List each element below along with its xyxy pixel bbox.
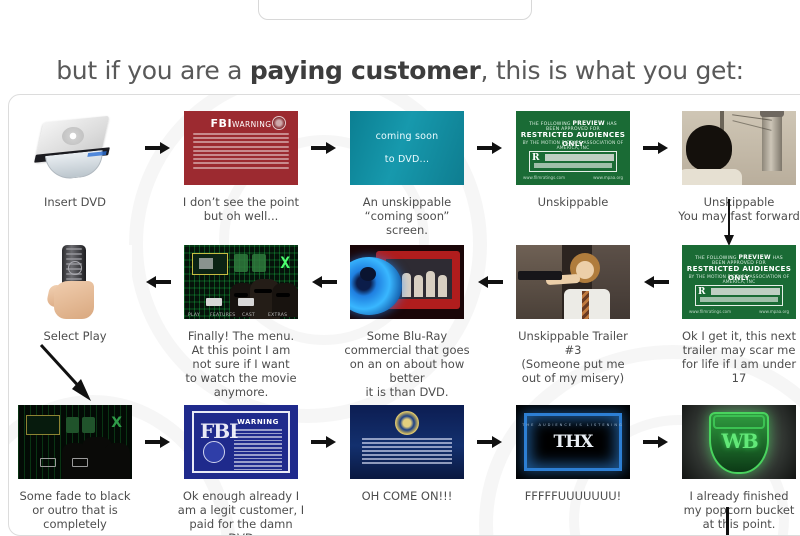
flow-step: FBIWARNING I don’t see the point but oh …: [175, 109, 307, 223]
fbi-seal-screen: [350, 405, 464, 479]
headline-suffix: , this is what you get:: [481, 56, 744, 85]
wb-wordmark: WB: [721, 429, 756, 453]
thumbnail-wrap: coming soon to DVD...: [350, 109, 464, 187]
girl-with-gun-trailer: [516, 245, 630, 319]
flow-step: Some Blu-Ray commercial that goes on an …: [341, 243, 473, 399]
mpaa-line1-mid: PREVIEW: [738, 254, 770, 261]
menu-button-extras[interactable]: EXTRAS: [268, 313, 287, 318]
arrow-diagonal-down-right-icon: [39, 343, 105, 411]
coming-soon-line2: to DVD...: [385, 154, 429, 165]
arrow-right-icon: [473, 403, 507, 481]
flow-step: coming soon to DVD... An unskippable “co…: [341, 109, 473, 237]
fbi-red-subtitle: WARNING: [232, 120, 271, 129]
dvd-drive-icon: [18, 111, 132, 185]
step-caption: Insert DVD: [11, 195, 139, 209]
arrow-left-icon: [141, 243, 175, 321]
flow-step: OH COME ON!!!: [341, 403, 473, 503]
flow-step: Insert DVD: [9, 109, 141, 209]
step-caption: Unskippable: [509, 195, 637, 209]
mpaa-line3: BY THE MOTION PICTURE ASSOCIATION OF AME…: [516, 141, 630, 151]
mpaa-footer-left: www.filmratings.com: [523, 175, 565, 180]
thumbnail-wrap: THE FOLLOWING PREVIEW HAS BEEN APPROVED …: [682, 243, 796, 321]
mpaa-line1-mid: PREVIEW: [572, 120, 604, 127]
fade-to-black-menu: X: [18, 405, 132, 479]
menu-button-cast[interactable]: CAST: [242, 313, 255, 318]
thumbnail-wrap: [682, 109, 796, 187]
fbi-red-warning-screen: FBIWARNING: [184, 111, 298, 185]
flow-step: THE FOLLOWING PREVIEW HAS BEEN APPROVED …: [673, 243, 800, 385]
arrow-right-icon: [639, 109, 673, 187]
menu-button-features[interactable]: FEATURES: [210, 313, 235, 318]
mpaa-green-card: THE FOLLOWING PREVIEW HAS BEEN APPROVED …: [682, 245, 796, 319]
mpaa-line3: BY THE MOTION PICTURE ASSOCIATION OF AME…: [682, 275, 796, 285]
mpaa-footer-right: www.mpaa.org: [759, 309, 789, 314]
fbi-seal-icon: [272, 116, 286, 130]
arrow-right-icon: [141, 403, 175, 481]
menu-button-play[interactable]: PLAY: [188, 313, 200, 318]
warner-bros-logo: WB: [682, 405, 796, 479]
coming-soon-screen: coming soon to DVD...: [350, 111, 464, 185]
page-headline: but if you are a paying customer, this i…: [0, 56, 800, 85]
flow-step: Select Play: [9, 243, 141, 343]
thumbnail-wrap: [350, 243, 464, 321]
step-caption: OH COME ON!!!: [343, 489, 471, 503]
arrow-right-icon: [307, 109, 341, 187]
mpaa-rating-box: R: [529, 151, 617, 172]
thx-logo: THE AUDIENCE IS LISTENING THX: [516, 405, 630, 479]
remote-in-hand: [18, 245, 132, 319]
arrow-left-icon: [307, 243, 341, 321]
fbi-blue-title: WARNING: [234, 418, 282, 426]
flow-step: X Some fade to black or outro that is co…: [9, 403, 141, 531]
thumbnail-wrap: X PLAY FEATURES CAST EXTRAS: [184, 243, 298, 321]
arrow-right-icon: [141, 109, 175, 187]
thumbnail-wrap: X: [18, 403, 132, 481]
thumbnail-wrap: [350, 403, 464, 481]
flow-step: X PLAY FEATURES CAST EXTRAS Finally! The…: [175, 243, 307, 399]
step-caption: Some fade to black or outro that is comp…: [11, 489, 139, 531]
arrow-left-icon: [639, 243, 673, 321]
step-caption: An unskippable “coming soon” screen.: [343, 195, 471, 237]
step-caption: Some Blu-Ray commercial that goes on an …: [343, 329, 471, 399]
fbi-seal-body-text: [362, 438, 452, 467]
fbi-blue-body-text: [234, 429, 282, 465]
flow-step: Unskippable Trailer #3 (Someone put me o…: [507, 243, 639, 385]
thx-tagline: THE AUDIENCE IS LISTENING: [516, 423, 630, 427]
arrow-right-icon: [307, 403, 341, 481]
fbi-red-title: FBI: [211, 117, 233, 130]
mpaa-green-card: THE FOLLOWING PREVIEW HAS BEEN APPROVED …: [516, 111, 630, 185]
silo-photo: [682, 111, 796, 185]
flow-row-1: Insert DVD FBIWARNING I don’t see the po…: [9, 109, 800, 237]
fbi-seal-icon: [395, 411, 419, 435]
flow-panel: Insert DVD FBIWARNING I don’t see the po…: [8, 94, 800, 536]
mpaa-footer-left: www.filmratings.com: [689, 309, 731, 314]
thumbnail-wrap: [18, 243, 132, 321]
coming-soon-line1: coming soon: [376, 131, 439, 142]
fbi-blue-mark: FBI: [200, 419, 237, 443]
thumbnail-wrap: [516, 243, 630, 321]
step-caption: Finally! The menu. At this point I am no…: [177, 329, 305, 399]
matrix-dvd-menu: X PLAY FEATURES CAST EXTRAS: [184, 245, 298, 319]
headline-emphasis: paying customer: [250, 56, 481, 85]
mpaa-rating-box: R: [695, 285, 783, 306]
bluray-commercial: [350, 245, 464, 319]
step-caption: Ok enough already I am a legit customer,…: [177, 489, 305, 536]
fbi-red-body-text: [193, 133, 289, 175]
flow-row-2: Select Play X PLAY FEATURE: [9, 243, 800, 399]
arrow-right-icon: [473, 109, 507, 187]
mpaa-rating-letter: R: [532, 153, 539, 163]
thumbnail-wrap: THE FOLLOWING PREVIEW HAS BEEN APPROVED …: [516, 109, 630, 187]
flow-step: WB I already finished my popcorn bucket …: [673, 403, 800, 531]
flow-row-3: X Some fade to black or outro that is co…: [9, 403, 800, 536]
flow-step: THE FOLLOWING PREVIEW HAS BEEN APPROVED …: [507, 109, 639, 209]
arrow-left-icon: [473, 243, 507, 321]
mpaa-footer-right: www.mpaa.org: [593, 175, 623, 180]
step-caption: Ok I get it, this next trailer may scar …: [675, 329, 800, 385]
step-caption: Unskippable You may fast forward: [675, 195, 800, 223]
thumbnail-wrap: WB: [682, 403, 796, 481]
previous-panel-clipped: [258, 0, 532, 20]
arrow-right-icon: [639, 403, 673, 481]
thx-wordmark: THX: [516, 432, 630, 452]
thumbnail-wrap: [18, 109, 132, 187]
mpaa-rating-letter: R: [698, 287, 705, 297]
thumbnail-wrap: FBIWARNING: [184, 109, 298, 187]
headline-prefix: but if you are a: [56, 56, 250, 85]
flow-step: THE AUDIENCE IS LISTENING THX FFFFFUUUUU…: [507, 403, 639, 503]
step-caption: FFFFFUUUUUUU!: [509, 489, 637, 503]
step-caption: I already finished my popcorn bucket at …: [675, 489, 800, 531]
step-caption: Unskippable Trailer #3 (Someone put me o…: [509, 329, 637, 385]
flow-step: FBI WARNING Ok enough already I am a leg…: [175, 403, 307, 536]
thumbnail-wrap: THE AUDIENCE IS LISTENING THX: [516, 403, 630, 481]
step-caption: Select Play: [11, 329, 139, 343]
fbi-blue-dot: [203, 441, 225, 463]
thumbnail-wrap: FBI WARNING: [184, 403, 298, 481]
arrow-down-continuation-icon: [725, 507, 731, 536]
fbi-blue-warning: FBI WARNING: [184, 405, 298, 479]
step-caption: I don’t see the point but oh well...: [177, 195, 305, 223]
